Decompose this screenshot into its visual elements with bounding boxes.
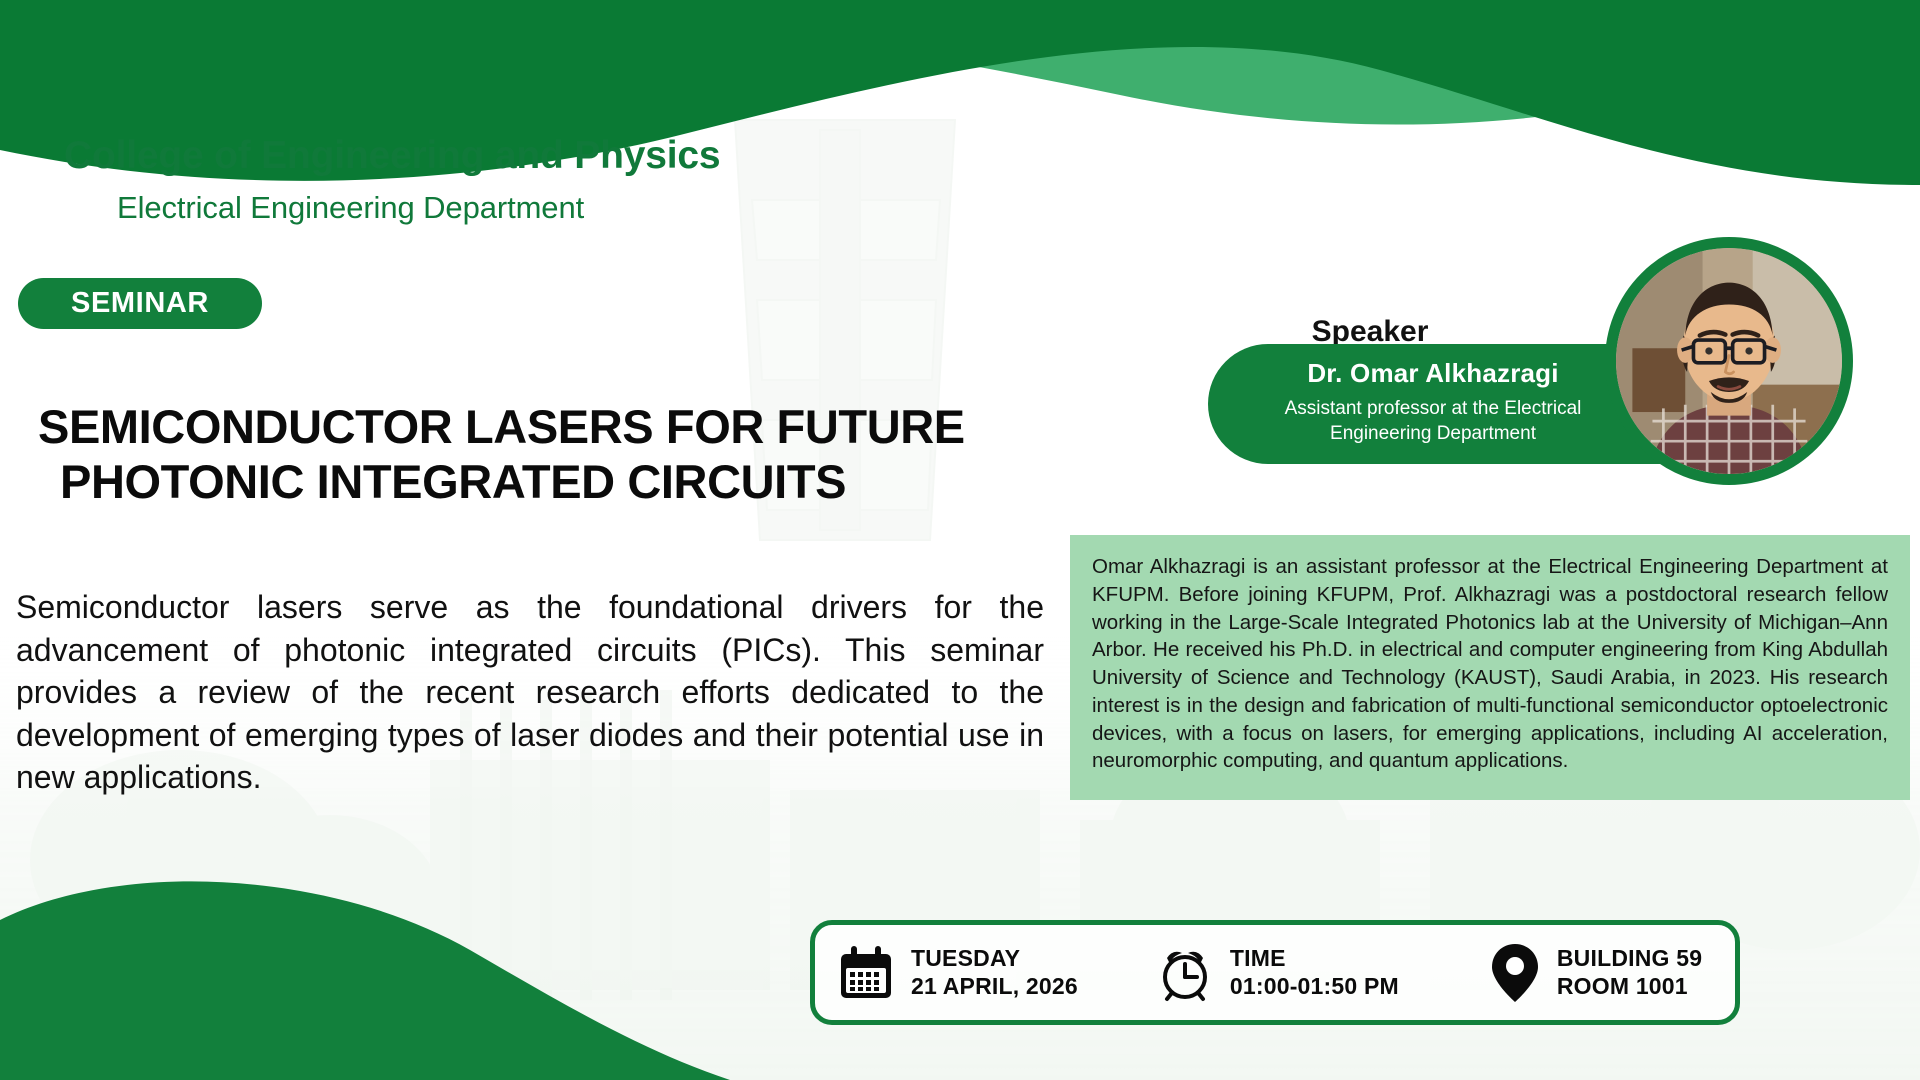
calendar-icon <box>837 944 895 1002</box>
detail-time-value: 01:00-01:50 PM <box>1230 973 1399 1000</box>
seminar-abstract: Semiconductor lasers serve as the founda… <box>16 586 1044 799</box>
detail-date-text: TUESDAY 21 APRIL, 2026 <box>911 945 1078 999</box>
speaker-title: Assistant professor at the Electrical En… <box>1248 397 1618 446</box>
detail-time-label: TIME <box>1230 945 1399 972</box>
speaker-bio-text: Omar Alkhazragi is an assistant professo… <box>1092 553 1888 775</box>
speaker-photo <box>1605 237 1853 485</box>
college-name: College of Engineering and Physics <box>64 134 720 178</box>
detail-location-building: BUILDING 59 <box>1557 945 1702 972</box>
seminar-badge: SEMINAR <box>18 278 262 329</box>
event-details-bar: TUESDAY 21 APRIL, 2026 TIME 01:00-01 <box>810 920 1740 1025</box>
detail-location: BUILDING 59 ROOM 1001 <box>1489 942 1702 1004</box>
map-pin-icon <box>1489 942 1541 1004</box>
detail-time: TIME 01:00-01:50 PM <box>1156 944 1399 1002</box>
speaker-bio-box: Omar Alkhazragi is an assistant professo… <box>1070 535 1910 800</box>
seminar-badge-label: SEMINAR <box>71 287 209 320</box>
detail-location-text: BUILDING 59 ROOM 1001 <box>1557 945 1702 999</box>
detail-date-day: TUESDAY <box>911 945 1078 972</box>
detail-location-room: ROOM 1001 <box>1557 973 1702 1000</box>
speaker-portrait-icon <box>1616 248 1842 474</box>
detail-time-text: TIME 01:00-01:50 PM <box>1230 945 1399 999</box>
seminar-poster: College of Engineering and Physics Elect… <box>0 0 1920 1080</box>
speaker-name: Dr. Omar Alkhazragi <box>1248 358 1618 389</box>
seminar-title: SEMICONDUCTOR LASERS FOR FUTURE PHOTONIC… <box>38 400 1038 510</box>
seminar-title-line2: PHOTONIC INTEGRATED CIRCUITS <box>60 455 1038 510</box>
detail-date: TUESDAY 21 APRIL, 2026 <box>837 944 1078 1002</box>
detail-date-value: 21 APRIL, 2026 <box>911 973 1078 1000</box>
alarm-clock-icon <box>1156 944 1214 1002</box>
department-name: Electrical Engineering Department <box>117 190 584 226</box>
seminar-title-line1: SEMICONDUCTOR LASERS FOR FUTURE <box>38 400 965 453</box>
